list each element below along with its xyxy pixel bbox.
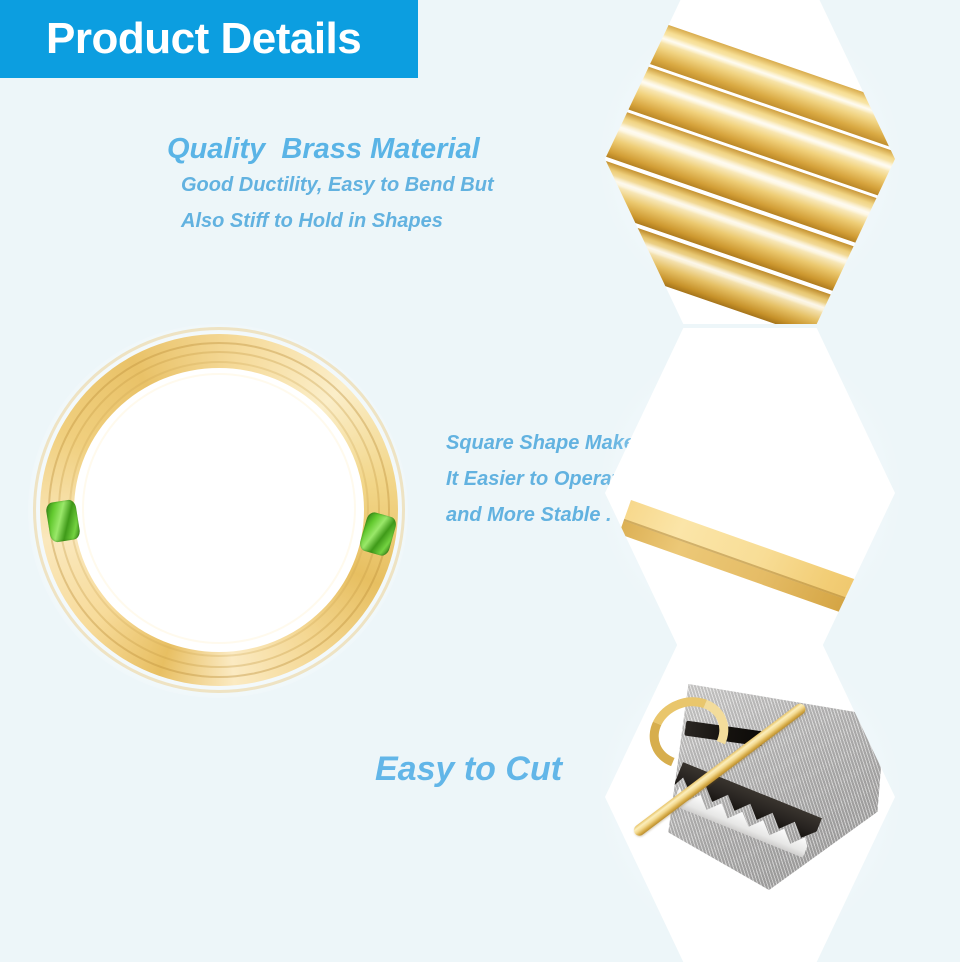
product-details-infographic: Product Details Quality Brass Material G… (0, 0, 960, 960)
bar-top-face (624, 500, 875, 607)
hex-image-wire-strands (605, 0, 895, 324)
pliers-jaw (656, 762, 822, 885)
feature-easy-to-cut-heading: Easy to Cut (375, 750, 562, 789)
brass-wire-coil-image (18, 316, 418, 706)
brass-square-bar (619, 500, 874, 620)
hex-wire-inner (605, 0, 895, 324)
hex-image-pliers-cutting (605, 632, 895, 962)
hex-pliers-inner (605, 632, 895, 962)
feature-quality-heading: Quality Brass Material (167, 133, 494, 166)
feature-quality-brass: Quality Brass Material Good Ductility, E… (167, 133, 494, 238)
hex-image-square-bar (605, 328, 895, 658)
feature-easy-to-cut: Easy to Cut (375, 750, 562, 789)
feature-square-line-1: Square Shape Makes (446, 425, 646, 461)
feature-quality-line-1: Good Ductility, Easy to Bend But (181, 168, 494, 202)
green-twist-tie-left (45, 499, 81, 543)
feature-quality-line-2: Also Stiff to Hold in Shapes (181, 204, 494, 238)
bar-end-cap (856, 583, 884, 630)
page-title: Product Details (46, 14, 361, 64)
header-banner: Product Details (0, 0, 418, 78)
hex-bar-inner (605, 328, 895, 658)
coil-center-hole (93, 382, 345, 632)
wire-strand-group (605, 0, 895, 324)
